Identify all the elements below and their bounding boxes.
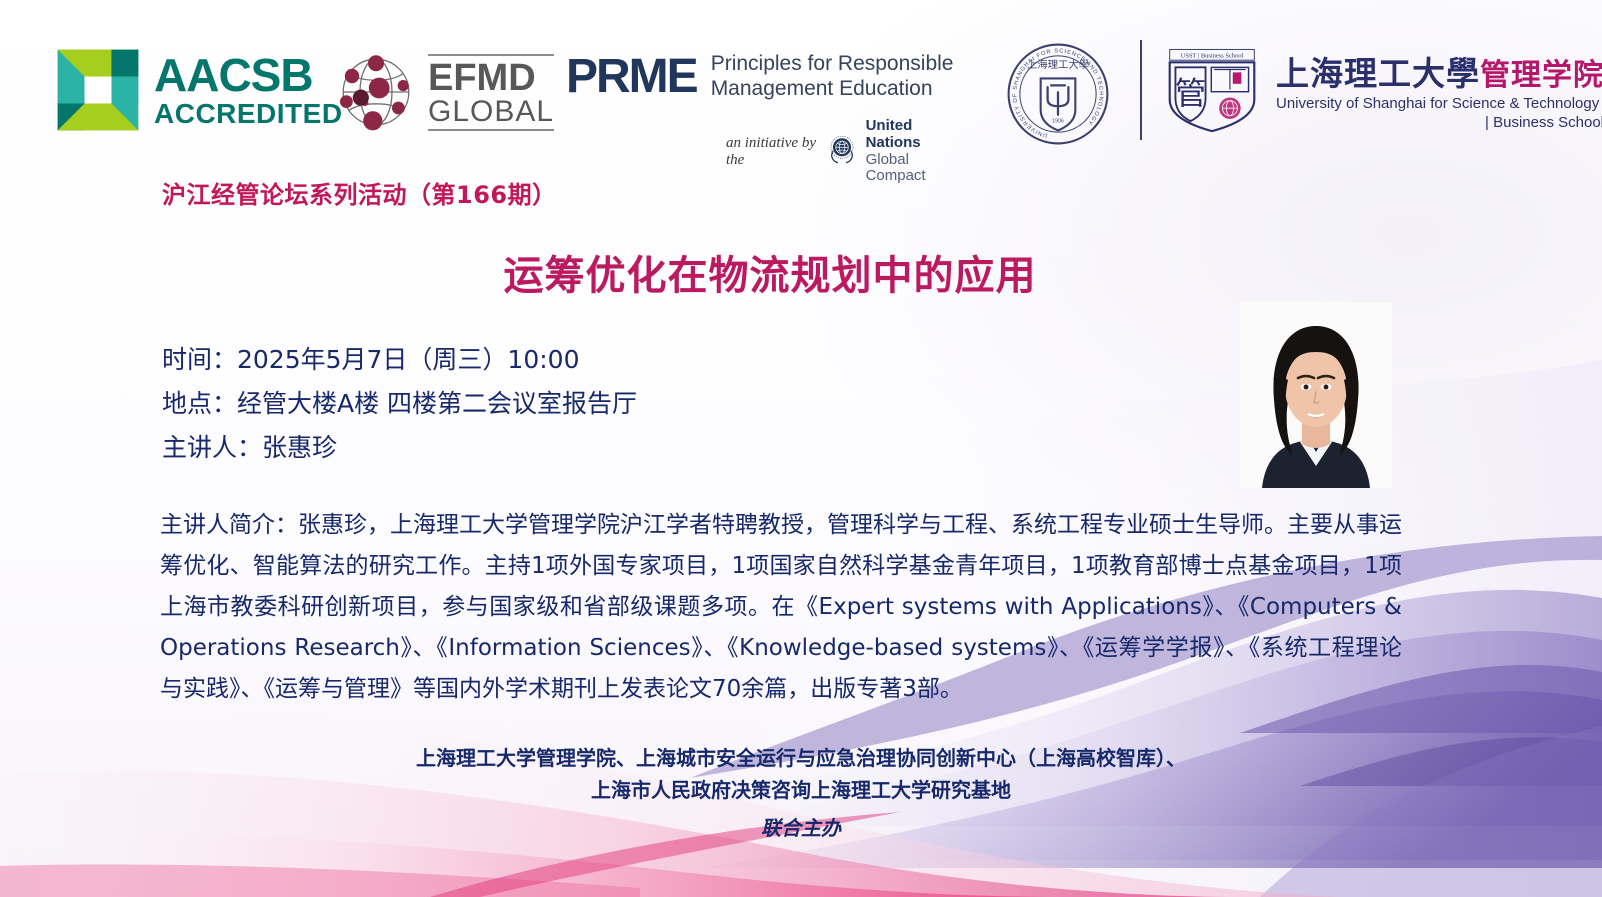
usst-seal-icon: UNIVERSITY OF SHANGHAI FOR SCIENCE AND T…: [1006, 42, 1110, 151]
bs-en-school: | Business School: [1276, 114, 1602, 131]
efmd-logo: EFMD GLOBAL: [336, 52, 554, 132]
usst-seal: UNIVERSITY OF SHANGHAI FOR SCIENCE AND T…: [1006, 42, 1110, 151]
event-details: 时间：2025年5月7日（周三）10:00 地点：经管大楼A楼 四楼第二会议室报…: [162, 338, 637, 470]
prme-tagline-line2: Management Education: [711, 77, 954, 102]
event-time: 时间：2025年5月7日（周三）10:00: [162, 338, 637, 382]
bs-en-university: University of Shanghai for Science & Tec…: [1276, 95, 1602, 112]
svg-text:上海理工大學: 上海理工大學: [1027, 58, 1089, 71]
aacsb-logo: AACSB ACCREDITED: [56, 48, 343, 132]
accreditation-logo-bar: AACSB ACCREDITED: [0, 30, 1602, 155]
usst-business-school-icon: USST | Business School 管: [1158, 48, 1266, 139]
series-label: 沪江经管论坛系列活动（第166期）: [162, 175, 557, 210]
event-poster: AACSB ACCREDITED: [0, 0, 1602, 897]
svg-text:1906: 1906: [1052, 119, 1064, 125]
organizer-line-1: 上海理工大学管理学院、上海城市安全运行与应急治理协同创新中心（上海高校智库）、: [0, 742, 1602, 774]
prme-wordmark: PRME: [566, 53, 697, 101]
jointly-hosted-label: 联合主办: [0, 812, 1602, 841]
event-location: 地点：经管大楼A楼 四楼第二会议室报告厅: [162, 382, 637, 426]
bs-cn-university: 上海理工大學: [1276, 54, 1480, 93]
svg-text:管: 管: [1175, 76, 1207, 112]
efmd-label-primary: EFMD: [428, 54, 554, 97]
prme-tagline-line1: Principles for Responsible: [711, 52, 954, 77]
prme-initiative-text: an initiative by the: [726, 135, 818, 169]
organizers: 上海理工大学管理学院、上海城市安全运行与应急治理协同创新中心（上海高校智库）、 …: [0, 742, 1602, 807]
svg-text:USST | Business School: USST | Business School: [1181, 52, 1244, 59]
logo-divider: [1140, 40, 1142, 140]
efmd-globe-icon: [336, 52, 416, 132]
page-title: 运筹优化在物流规划中的应用: [0, 243, 1540, 301]
usst-business-school-logo: USST | Business School 管: [1158, 48, 1602, 139]
un-label-line1: United Nations: [866, 118, 954, 152]
un-global-compact-icon: [825, 132, 859, 171]
aacsb-label-primary: AACSB: [154, 52, 343, 98]
aacsb-logo-icon: [56, 48, 140, 132]
prme-logo: PRME Principles for Responsible Manageme…: [566, 52, 953, 102]
bs-cn-school: 管理学院: [1480, 58, 1602, 93]
organizer-line-2: 上海市人民政府决策咨询上海理工大学研究基地: [0, 774, 1602, 806]
speaker-portrait: [1240, 302, 1392, 488]
event-speaker: 主讲人：张惠珍: [162, 426, 637, 470]
efmd-label-secondary: GLOBAL: [428, 97, 554, 131]
speaker-biography: 主讲人简介：张惠珍，上海理工大学管理学院沪江学者特聘教授，管理科学与工程、系统工…: [160, 505, 1402, 710]
aacsb-label-secondary: ACCREDITED: [154, 100, 343, 128]
un-label-line2: Global Compact: [866, 152, 954, 186]
